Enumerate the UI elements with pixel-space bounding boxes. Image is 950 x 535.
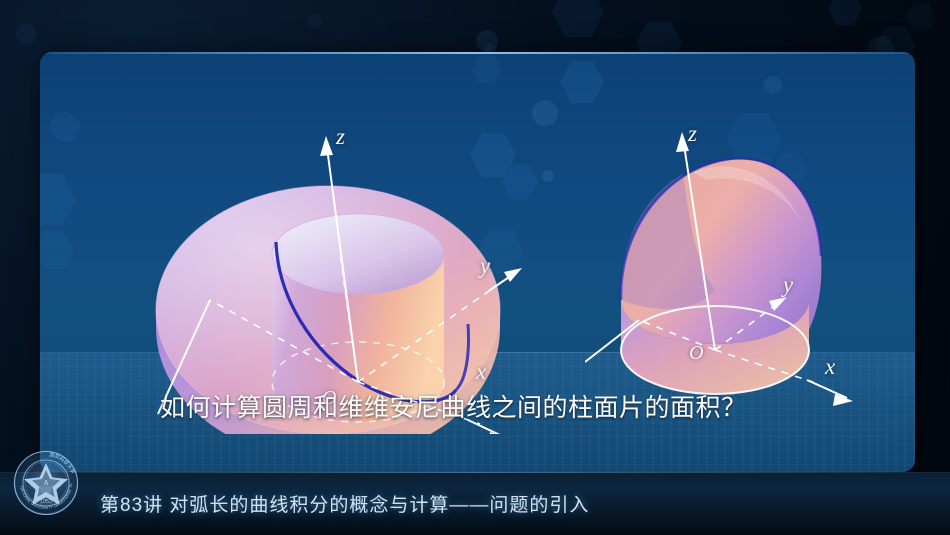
figure-left-svg <box>150 114 570 434</box>
figure-right-svg <box>585 114 885 434</box>
figure-cylindrical-patch: z y x O <box>585 114 885 434</box>
axis-label-x: x <box>825 354 835 380</box>
axis-label-z: z <box>336 124 345 150</box>
university-logo-reflection <box>12 486 80 516</box>
slide-root: z y x O <box>0 0 950 535</box>
axis-label-y: y <box>480 253 490 279</box>
axis-label-origin: O <box>689 342 703 365</box>
footer-bar: 第83讲 对弧长的曲线积分的概念与计算——问题的引入 第83讲 对弧长的曲线积分… <box>0 472 950 535</box>
axis-label-y: y <box>783 272 793 298</box>
axis-z-arrow <box>320 136 333 156</box>
axis-y-arrow <box>504 268 522 282</box>
axis-label-z: z <box>688 121 697 147</box>
slide-caption: 如何计算圆周和维维安尼曲线之间的柱面片的面积？ <box>160 392 820 424</box>
figure-sphere-cylinder: z y x O <box>150 114 570 434</box>
axis-label-x: x <box>476 359 486 385</box>
lecture-title-reflection: 第83讲 对弧长的曲线积分的概念与计算——问题的引入 <box>100 498 589 513</box>
